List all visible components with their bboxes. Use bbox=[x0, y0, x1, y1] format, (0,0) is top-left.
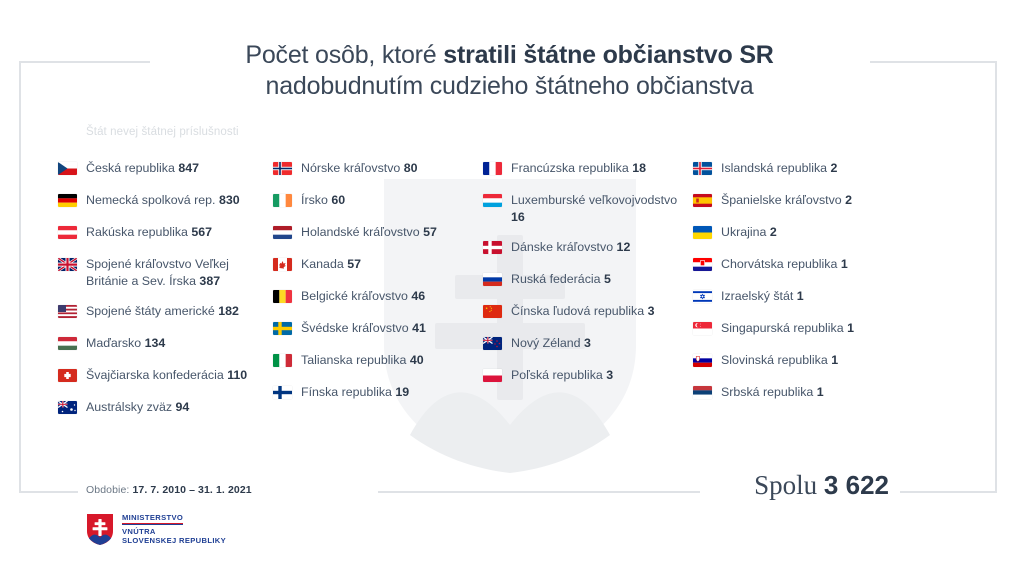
title-line2: nadobudnutím cudzieho štátneho občianstv… bbox=[266, 72, 754, 100]
country-row: Česká republika 847 bbox=[58, 160, 273, 178]
flag-finland bbox=[273, 386, 292, 399]
country-name: Kanada bbox=[301, 257, 344, 271]
country-row: Slovinská republika 1 bbox=[693, 352, 923, 370]
country-entry: Holandské kráľovstvo 57 bbox=[301, 224, 437, 241]
country-entry: Švajčiarska konfederácia 110 bbox=[86, 367, 247, 384]
flag-belgium bbox=[273, 290, 292, 303]
country-name: Singapurská republika bbox=[721, 321, 844, 335]
country-name: Nemecká spolková rep. bbox=[86, 193, 215, 207]
flag-switzerland bbox=[58, 369, 77, 382]
country-count: 16 bbox=[511, 210, 525, 224]
country-row: Nórske kráľovstvo 80 bbox=[273, 160, 483, 178]
country-name: Ukrajina bbox=[721, 225, 766, 239]
country-count: 19 bbox=[395, 385, 409, 399]
flag-norway bbox=[273, 162, 292, 175]
country-row: Francúzska republika 18 bbox=[483, 160, 693, 178]
country-entry: Poľská republika 3 bbox=[511, 367, 613, 384]
country-row: Talianska republika 40 bbox=[273, 352, 483, 370]
country-row: Luxemburské veľkovojvodstvo 16 bbox=[483, 192, 693, 225]
country-count: 1 bbox=[817, 385, 824, 399]
country-entry: Singapurská republika 1 bbox=[721, 320, 854, 337]
country-name: Švédske kráľovstvo bbox=[301, 321, 409, 335]
country-name: Nórske kráľovstvo bbox=[301, 161, 400, 175]
country-name: Chorvátska republika bbox=[721, 257, 837, 271]
country-entry: Spojené kráľovstvo Veľkej Británie a Sev… bbox=[86, 256, 271, 289]
country-row: Belgické kráľovstvo 46 bbox=[273, 288, 483, 306]
country-row: Kanada 57 bbox=[273, 256, 483, 274]
country-name: Islandská republika bbox=[721, 161, 827, 175]
country-row: Nový Zéland 3 bbox=[483, 335, 693, 353]
country-row: Holandské kráľovstvo 57 bbox=[273, 224, 483, 242]
country-name: Izraelský štát bbox=[721, 289, 793, 303]
country-column-1: Česká republika 847Nemecká spolková rep.… bbox=[58, 160, 273, 431]
ministry-logo-line3: SLOVENSKEJ REPUBLIKY bbox=[122, 536, 226, 545]
country-entry: Chorvátska republika 1 bbox=[721, 256, 848, 273]
country-entry: Španielske kráľovstvo 2 bbox=[721, 192, 852, 209]
country-entry: Ruská federácia 5 bbox=[511, 271, 611, 288]
flag-denmark bbox=[483, 241, 502, 254]
country-name: Nový Zéland bbox=[511, 336, 581, 350]
country-count: 57 bbox=[423, 225, 437, 239]
country-name: Česká republika bbox=[86, 161, 175, 175]
country-count: 110 bbox=[227, 368, 247, 382]
country-row: Španielske kráľovstvo 2 bbox=[693, 192, 923, 210]
country-entry: Fínska republika 19 bbox=[301, 384, 409, 401]
country-count: 3 bbox=[606, 368, 613, 382]
country-name: Talianska republika bbox=[301, 353, 406, 367]
flag-sweden bbox=[273, 322, 292, 335]
title-line1-prefix: Počet osôb, ktoré bbox=[245, 41, 443, 69]
country-count: 567 bbox=[191, 225, 212, 239]
flag-iceland bbox=[693, 162, 712, 175]
country-count: 1 bbox=[797, 289, 804, 303]
country-name: Maďarsko bbox=[86, 336, 141, 350]
flag-united-kingdom bbox=[58, 258, 77, 271]
country-count: 46 bbox=[411, 289, 425, 303]
period-label: Obdobie: bbox=[86, 484, 132, 496]
country-entry: Belgické kráľovstvo 46 bbox=[301, 288, 425, 305]
country-count: 387 bbox=[199, 274, 220, 288]
flag-united-states bbox=[58, 305, 77, 318]
flag-luxembourg bbox=[483, 194, 502, 207]
country-name: Holandské kráľovstvo bbox=[301, 225, 420, 239]
country-count: 1 bbox=[847, 321, 854, 335]
country-count: 3 bbox=[584, 336, 591, 350]
country-entry: Srbská republika 1 bbox=[721, 384, 824, 401]
flag-serbia bbox=[693, 386, 712, 399]
column-header-label: Štát nevej štátnej príslušnosti bbox=[86, 126, 239, 138]
country-row: Izraelský štát 1 bbox=[693, 288, 923, 306]
flag-poland bbox=[483, 369, 502, 382]
country-count: 2 bbox=[770, 225, 777, 239]
country-name: Rakúska republika bbox=[86, 225, 188, 239]
country-entry: Islandská republika 2 bbox=[721, 160, 837, 177]
country-name: Srbská republika bbox=[721, 385, 813, 399]
country-row: Islandská republika 2 bbox=[693, 160, 923, 178]
flag-ukraine bbox=[693, 226, 712, 239]
country-count: 41 bbox=[412, 321, 426, 335]
total-label: Spolu bbox=[754, 470, 824, 500]
country-name: Francúzska republika bbox=[511, 161, 629, 175]
country-name: Fínska republika bbox=[301, 385, 392, 399]
country-count: 3 bbox=[648, 304, 655, 318]
country-row: Nemecká spolková rep. 830 bbox=[58, 192, 273, 210]
flag-china bbox=[483, 305, 502, 318]
country-name: Poľská republika bbox=[511, 368, 603, 382]
country-count: 1 bbox=[841, 257, 848, 271]
flag-france bbox=[483, 162, 502, 175]
country-name: Írsko bbox=[301, 193, 328, 207]
country-entry: Nórske kráľovstvo 80 bbox=[301, 160, 418, 177]
country-entry: Kanada 57 bbox=[301, 256, 361, 273]
country-count: 847 bbox=[178, 161, 199, 175]
country-count: 12 bbox=[617, 240, 631, 254]
country-name: Austrálsky zväz bbox=[86, 400, 172, 414]
ministry-logo-line1: MINISTERSTVO bbox=[122, 513, 183, 525]
country-entry: Nový Zéland 3 bbox=[511, 335, 591, 352]
title-line1-emphasis: stratili štátne občianstvo SR bbox=[443, 41, 773, 69]
country-count: 2 bbox=[831, 161, 838, 175]
country-count: 134 bbox=[145, 336, 166, 350]
country-row: Rakúska republika 567 bbox=[58, 224, 273, 242]
country-entry: Čínska ľudová republika 3 bbox=[511, 303, 654, 320]
country-count: 18 bbox=[632, 161, 646, 175]
country-count: 57 bbox=[347, 257, 361, 271]
country-row: Poľská republika 3 bbox=[483, 367, 693, 385]
flag-austria bbox=[58, 226, 77, 239]
flag-israel bbox=[693, 290, 712, 303]
country-entry: Ukrajina 2 bbox=[721, 224, 777, 241]
country-name: Ruská federácia bbox=[511, 272, 601, 286]
country-row: Singapurská republika 1 bbox=[693, 320, 923, 338]
country-row: Spojené kráľovstvo Veľkej Británie a Sev… bbox=[58, 256, 273, 289]
slovak-coat-of-arms-icon bbox=[86, 513, 114, 546]
country-entry: Talianska republika 40 bbox=[301, 352, 424, 369]
country-row: Švajčiarska konfederácia 110 bbox=[58, 367, 273, 385]
country-entry: Írsko 60 bbox=[301, 192, 345, 209]
total-text: Spolu 3 622 bbox=[754, 470, 889, 501]
period-text: Obdobie: 17. 7. 2010 – 31. 1. 2021 bbox=[86, 484, 252, 496]
country-entry: Švédske kráľovstvo 41 bbox=[301, 320, 426, 337]
country-name: Luxemburské veľkovojvodstvo bbox=[511, 193, 677, 207]
flag-hungary bbox=[58, 337, 77, 350]
logo-red-underline bbox=[122, 523, 183, 524]
country-entry: Izraelský štát 1 bbox=[721, 288, 804, 305]
country-count: 5 bbox=[604, 272, 611, 286]
country-row: Chorvátska republika 1 bbox=[693, 256, 923, 274]
country-name: Švajčiarska konfederácia bbox=[86, 368, 224, 382]
flag-spain bbox=[693, 194, 712, 207]
total-value: 3 622 bbox=[824, 470, 889, 500]
country-count: 2 bbox=[845, 193, 852, 207]
country-row: Maďarsko 134 bbox=[58, 335, 273, 353]
country-name: Spojené štáty americké bbox=[86, 304, 215, 318]
country-column-4: Islandská republika 2Španielske kráľovst… bbox=[693, 160, 923, 431]
country-name: Belgické kráľovstvo bbox=[301, 289, 408, 303]
country-entry: Nemecká spolková rep. 830 bbox=[86, 192, 240, 209]
country-row: Ukrajina 2 bbox=[693, 224, 923, 242]
country-name: Španielske kráľovstvo bbox=[721, 193, 842, 207]
country-columns: Česká republika 847Nemecká spolková rep.… bbox=[58, 160, 958, 431]
flag-singapore bbox=[693, 322, 712, 335]
country-count: 830 bbox=[219, 193, 240, 207]
flag-canada bbox=[273, 258, 292, 271]
country-entry: Česká republika 847 bbox=[86, 160, 199, 177]
ministry-logo: MINISTERSTVO VNÚTRA SLOVENSKEJ REPUBLIKY bbox=[86, 513, 226, 546]
country-entry: Maďarsko 134 bbox=[86, 335, 165, 352]
flag-australia bbox=[58, 401, 77, 414]
country-row: Čínska ľudová republika 3 bbox=[483, 303, 693, 321]
country-entry: Spojené štáty americké 182 bbox=[86, 303, 239, 320]
country-row: Švédske kráľovstvo 41 bbox=[273, 320, 483, 338]
country-count: 60 bbox=[331, 193, 345, 207]
country-row: Ruská federácia 5 bbox=[483, 271, 693, 289]
country-column-3: Francúzska republika 18Luxemburské veľko… bbox=[483, 160, 693, 431]
period-value: 17. 7. 2010 – 31. 1. 2021 bbox=[132, 484, 251, 496]
country-count: 94 bbox=[176, 400, 190, 414]
flag-ireland bbox=[273, 194, 292, 207]
ministry-logo-line2: VNÚTRA bbox=[122, 527, 226, 536]
country-name: Čínska ľudová republika bbox=[511, 304, 644, 318]
country-row: Dánske kráľovstvo 12 bbox=[483, 239, 693, 257]
country-row: Austrálsky zväz 94 bbox=[58, 399, 273, 417]
country-count: 80 bbox=[404, 161, 418, 175]
country-entry: Luxemburské veľkovojvodstvo 16 bbox=[511, 192, 693, 225]
country-entry: Slovinská republika 1 bbox=[721, 352, 838, 369]
country-count: 182 bbox=[218, 304, 239, 318]
country-column-2: Nórske kráľovstvo 80Írsko 60Holandské kr… bbox=[273, 160, 483, 431]
ministry-logo-text: MINISTERSTVO VNÚTRA SLOVENSKEJ REPUBLIKY bbox=[122, 513, 226, 546]
flag-italy bbox=[273, 354, 292, 367]
country-row: Írsko 60 bbox=[273, 192, 483, 210]
country-row: Srbská republika 1 bbox=[693, 384, 923, 402]
country-entry: Dánske kráľovstvo 12 bbox=[511, 239, 630, 256]
country-count: 40 bbox=[410, 353, 424, 367]
country-entry: Rakúska republika 567 bbox=[86, 224, 212, 241]
flag-slovenia bbox=[693, 354, 712, 367]
page-title: Počet osôb, ktoré stratili štátne občian… bbox=[0, 40, 1019, 102]
flag-germany bbox=[58, 194, 77, 207]
country-name: Dánske kráľovstvo bbox=[511, 240, 613, 254]
flag-czech-republic bbox=[58, 162, 77, 175]
country-count: 1 bbox=[831, 353, 838, 367]
country-row: Spojené štáty americké 182 bbox=[58, 303, 273, 321]
country-entry: Francúzska republika 18 bbox=[511, 160, 646, 177]
country-name: Slovinská republika bbox=[721, 353, 828, 367]
country-row: Fínska republika 19 bbox=[273, 384, 483, 402]
flag-new-zealand bbox=[483, 337, 502, 350]
flag-netherlands bbox=[273, 226, 292, 239]
flag-croatia bbox=[693, 258, 712, 271]
flag-russia bbox=[483, 273, 502, 286]
country-entry: Austrálsky zväz 94 bbox=[86, 399, 189, 416]
